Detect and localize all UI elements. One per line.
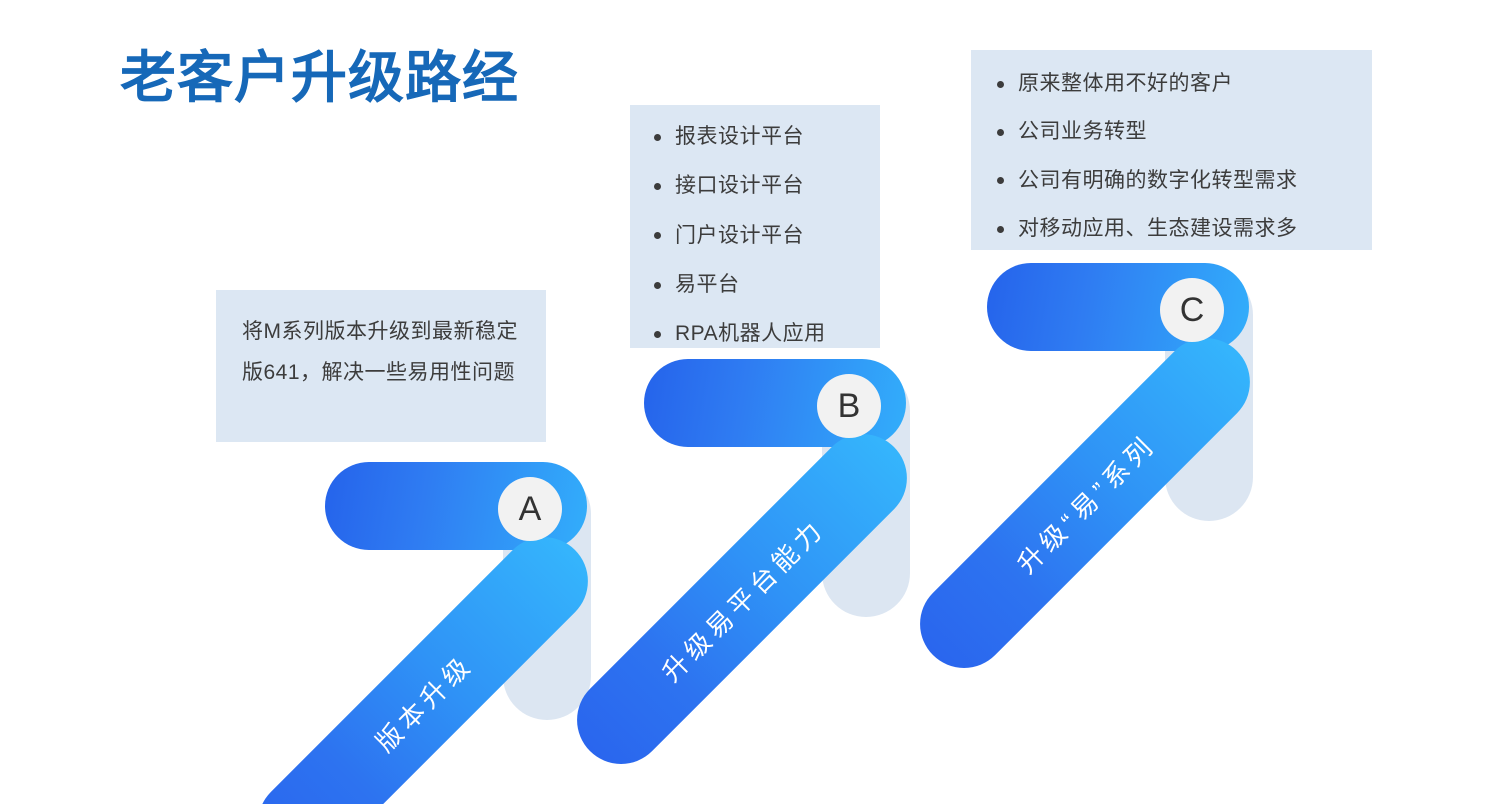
info-box-b: 报表设计平台 接口设计平台 门户设计平台 易平台 RPA机器人应用	[630, 105, 880, 348]
bullet-dot-icon	[997, 81, 1004, 88]
info-box-a: 将M系列版本升级到最新稳定版641，解决一些易用性问题	[216, 290, 546, 442]
list-item: 公司有明确的数字化转型需求	[993, 167, 1350, 194]
list-item-label: 公司业务转型	[1018, 120, 1147, 143]
info-box-c-list: 原来整体用不好的客户 公司业务转型 公司有明确的数字化转型需求 对移动应用、生态…	[993, 70, 1350, 242]
list-item-label: RPA机器人应用	[675, 322, 826, 345]
list-item-label: 对移动应用、生态建设需求多	[1018, 217, 1298, 240]
list-item: 门户设计平台	[650, 222, 860, 249]
info-box-a-text: 将M系列版本升级到最新稳定版641，解决一些易用性问题	[242, 312, 520, 394]
list-item: RPA机器人应用	[650, 320, 860, 347]
page-title: 老客户升级路经	[120, 46, 519, 110]
list-item-label: 接口设计平台	[675, 174, 804, 197]
list-item: 易平台	[650, 271, 860, 298]
list-item: 接口设计平台	[650, 172, 860, 199]
list-item: 对移动应用、生态建设需求多	[993, 215, 1350, 242]
step-c-badge: C	[1160, 278, 1224, 342]
bullet-dot-icon	[654, 183, 661, 190]
list-item-label: 门户设计平台	[675, 224, 804, 247]
list-item-label: 报表设计平台	[675, 125, 804, 148]
list-item: 原来整体用不好的客户	[993, 70, 1350, 97]
step-a-badge: A	[498, 477, 562, 541]
bullet-dot-icon	[997, 177, 1004, 184]
list-item: 报表设计平台	[650, 123, 860, 150]
info-box-c: 原来整体用不好的客户 公司业务转型 公司有明确的数字化转型需求 对移动应用、生态…	[971, 50, 1372, 250]
list-item-label: 原来整体用不好的客户	[1018, 72, 1233, 95]
bullet-dot-icon	[654, 134, 661, 141]
bullet-dot-icon	[997, 226, 1004, 233]
slide-canvas: 老客户升级路经 版本升级 A 升级易平台能力 B 升级“易”系列 C 将M系列版…	[0, 0, 1496, 804]
info-box-b-list: 报表设计平台 接口设计平台 门户设计平台 易平台 RPA机器人应用	[650, 123, 860, 347]
list-item-label: 易平台	[675, 273, 740, 296]
bullet-dot-icon	[654, 331, 661, 338]
list-item: 公司业务转型	[993, 118, 1350, 145]
step-b-badge: B	[817, 374, 881, 438]
bullet-dot-icon	[997, 129, 1004, 136]
bullet-dot-icon	[654, 232, 661, 239]
bullet-dot-icon	[654, 282, 661, 289]
list-item-label: 公司有明确的数字化转型需求	[1018, 169, 1298, 192]
